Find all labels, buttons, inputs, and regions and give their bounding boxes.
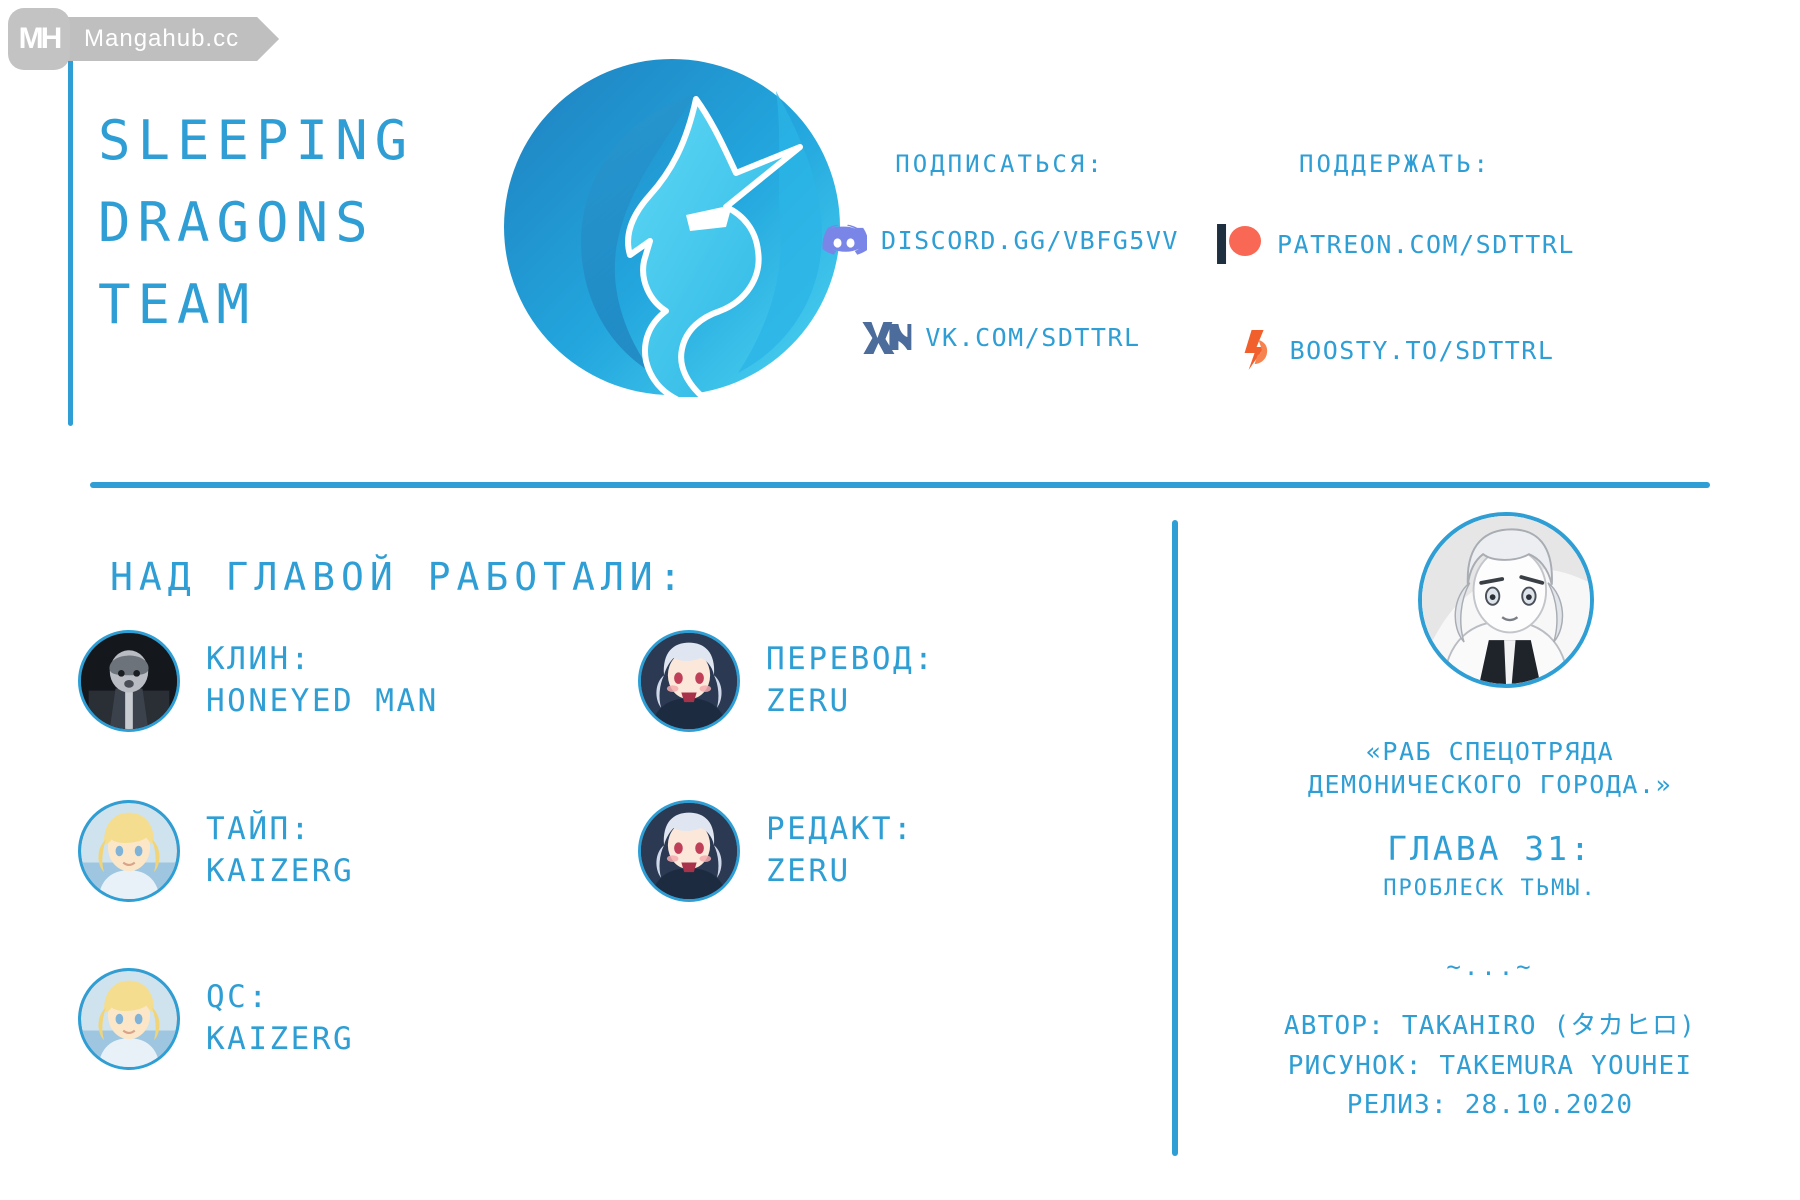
- boosty-icon: [1236, 328, 1276, 372]
- credits-page: MH Mangahub.cc SLEEPING DRAGONS TEAM: [0, 0, 1800, 1200]
- team-title-line-2: DRAGONS: [98, 182, 414, 264]
- credit-role: ТАЙП:: [206, 809, 354, 851]
- patreon-link[interactable]: PATREON.COM/SDTTRL: [1215, 222, 1575, 266]
- series-title: «РАБ СПЕЦОТРЯДА ДЕМОНИЧЕСКОГО ГОРОДА.»: [1200, 735, 1780, 801]
- credit-name: HONEYED MAN: [206, 681, 439, 723]
- vk-link-label: VK.COM/SDTTRL: [925, 323, 1140, 352]
- discord-icon: [821, 222, 867, 258]
- credit-member-editor: РЕДАКТ: ZERU: [638, 800, 914, 902]
- credit-text: РЕДАКТ: ZERU: [766, 809, 914, 892]
- credit-role: QC:: [206, 977, 354, 1019]
- credit-name: ZERU: [766, 851, 914, 893]
- credit-name: KAIZERG: [206, 851, 354, 893]
- support-heading: ПОДДЕРЖАТЬ:: [1215, 150, 1575, 178]
- series-title-line-1: «РАБ СПЕЦОТРЯДА: [1200, 735, 1780, 768]
- credit-name: ZERU: [766, 681, 935, 723]
- credit-role: КЛИН:: [206, 639, 439, 681]
- credit-member-klin: КЛИН: HONEYED MAN: [78, 630, 439, 732]
- series-character-avatar: [1418, 512, 1594, 688]
- avatar: [638, 630, 740, 732]
- team-title-line-3: TEAM: [98, 264, 414, 346]
- watermark-badge: MH: [8, 8, 70, 70]
- credit-role: РЕДАКТ:: [766, 809, 914, 851]
- team-title-line-1: SLEEPING: [98, 100, 414, 182]
- series-artist: РИСУНОК: TAKEMURA YOUHEI: [1200, 1047, 1780, 1087]
- discord-link-label: DISCORD.GG/VBFG5VV: [881, 226, 1179, 255]
- avatar: [78, 630, 180, 732]
- subscribe-heading: ПОДПИСАТЬСЯ:: [821, 150, 1179, 178]
- credit-text: ТАЙП: KAIZERG: [206, 809, 354, 892]
- boosty-link-label: BOOSTY.TO/SDTTRL: [1290, 336, 1555, 365]
- credit-role: ПЕРЕВОД:: [766, 639, 935, 681]
- credit-name: KAIZERG: [206, 1019, 354, 1061]
- series-author: АВТОР: TAKAHIRO (タカヒロ): [1200, 1007, 1780, 1047]
- team-title: SLEEPING DRAGONS TEAM: [98, 100, 414, 346]
- series-meta: АВТОР: TAKAHIRO (タカヒロ) РИСУНОК: TAKEMURA…: [1200, 1007, 1780, 1126]
- separator-ornament: ~...~: [1200, 953, 1780, 981]
- credit-member-translate: ПЕРЕВОД: ZERU: [638, 630, 935, 732]
- credit-member-type: ТАЙП: KAIZERG: [78, 800, 354, 902]
- credit-text: КЛИН: HONEYED MAN: [206, 639, 439, 722]
- discord-link[interactable]: DISCORD.GG/VBFG5VV: [821, 222, 1179, 258]
- credit-text: ПЕРЕВОД: ZERU: [766, 639, 935, 722]
- series-title-line-2: ДЕМОНИЧЕСКОГО ГОРОДА.»: [1200, 768, 1780, 801]
- chapter-number: ГЛАВА 31:: [1200, 829, 1780, 868]
- avatar: [78, 968, 180, 1070]
- vk-icon: [859, 320, 911, 354]
- series-info: «РАБ СПЕЦОТРЯДА ДЕМОНИЧЕСКОГО ГОРОДА.» Г…: [1200, 735, 1780, 1126]
- patreon-icon: [1215, 222, 1263, 266]
- boosty-link[interactable]: BOOSTY.TO/SDTTRL: [1236, 328, 1555, 372]
- center-vertical-divider: [1172, 520, 1178, 1156]
- chapter-subtitle: ПРОБЛЕСК ТЬМЫ.: [1200, 876, 1780, 901]
- patreon-link-label: PATREON.COM/SDTTRL: [1277, 230, 1575, 259]
- credits-heading: НАД ГЛАВОЙ РАБОТАЛИ:: [110, 555, 688, 599]
- avatar: [638, 800, 740, 902]
- watermark-label: Mangahub.cc: [58, 17, 279, 61]
- vk-link[interactable]: VK.COM/SDTTRL: [859, 320, 1140, 354]
- left-vertical-rule: [68, 42, 73, 426]
- social-support-column: ПОДДЕРЖАТЬ: PATREON.COM/SDTTRL BOOSTY.TO…: [1395, 150, 1755, 372]
- credit-member-qc: QC: KAIZERG: [78, 968, 354, 1070]
- avatar: [78, 800, 180, 902]
- dragon-logo-icon: [500, 55, 845, 400]
- credit-text: QC: KAIZERG: [206, 977, 354, 1060]
- watermark: MH Mangahub.cc: [8, 8, 279, 70]
- series-release-date: РЕЛИЗ: 28.10.2020: [1200, 1086, 1780, 1126]
- horizontal-divider: [90, 482, 1710, 488]
